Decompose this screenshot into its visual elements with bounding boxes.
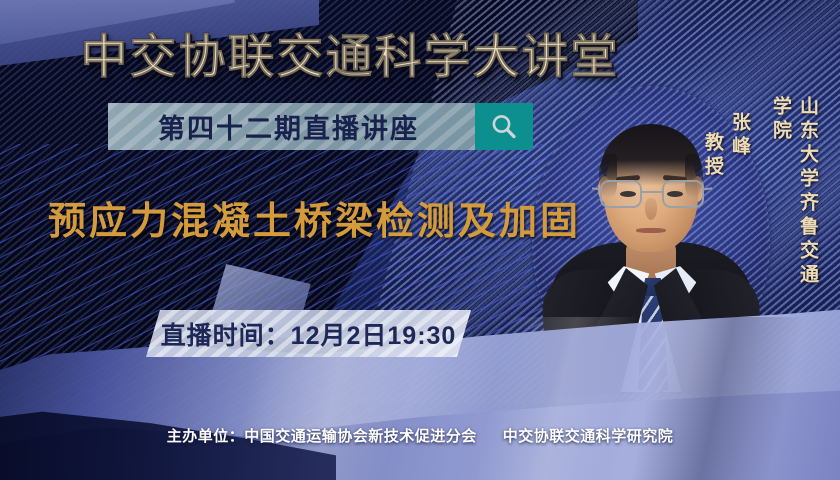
- footer-prefix: 主办单位：: [167, 428, 245, 445]
- broadcast-time-text: 直播时间：12月2日19:30: [161, 316, 457, 352]
- footer-organizer-1: 中国交通运输协会新技术促进分会: [244, 428, 477, 445]
- footer-organizers: 主办单位：中国交通运输协会新技术促进分会中交协联交通科学研究院: [0, 425, 840, 446]
- glasses-bridge: [642, 191, 662, 193]
- speaker-title: 教授: [700, 132, 727, 180]
- webinar-poster: 中交协联交通科学大讲堂 第四十二期直播讲座 预应力混凝土桥梁检测及加固 直播时间…: [0, 0, 840, 480]
- lecture-title: 预应力混凝土桥梁检测及加固: [48, 190, 581, 245]
- page-title: 中交协联交通科学大讲堂: [0, 18, 700, 87]
- speaker-info: 山东大学齐鲁交通学院 张峰 教授: [700, 96, 822, 311]
- search-icon: [489, 112, 519, 142]
- search-button[interactable]: [475, 103, 533, 150]
- speaker-organization: 山东大学齐鲁交通学院: [768, 96, 822, 311]
- glasses-temple-left: [592, 187, 602, 190]
- footer-organizer-2: 中交协联交通科学研究院: [503, 428, 674, 445]
- portrait-mouth: [636, 228, 666, 233]
- broadcast-time-badge: 直播时间：12月2日19:30: [146, 310, 471, 357]
- series-bar: 第四十二期直播讲座: [108, 103, 533, 150]
- speaker-name-title: 张峰 教授: [700, 112, 754, 252]
- glasses-lens-right: [662, 180, 704, 208]
- series-label: 第四十二期直播讲座: [108, 107, 475, 146]
- speaker-name: 张峰: [729, 112, 751, 160]
- glasses-icon: [598, 180, 706, 210]
- glasses-lens-left: [600, 180, 642, 208]
